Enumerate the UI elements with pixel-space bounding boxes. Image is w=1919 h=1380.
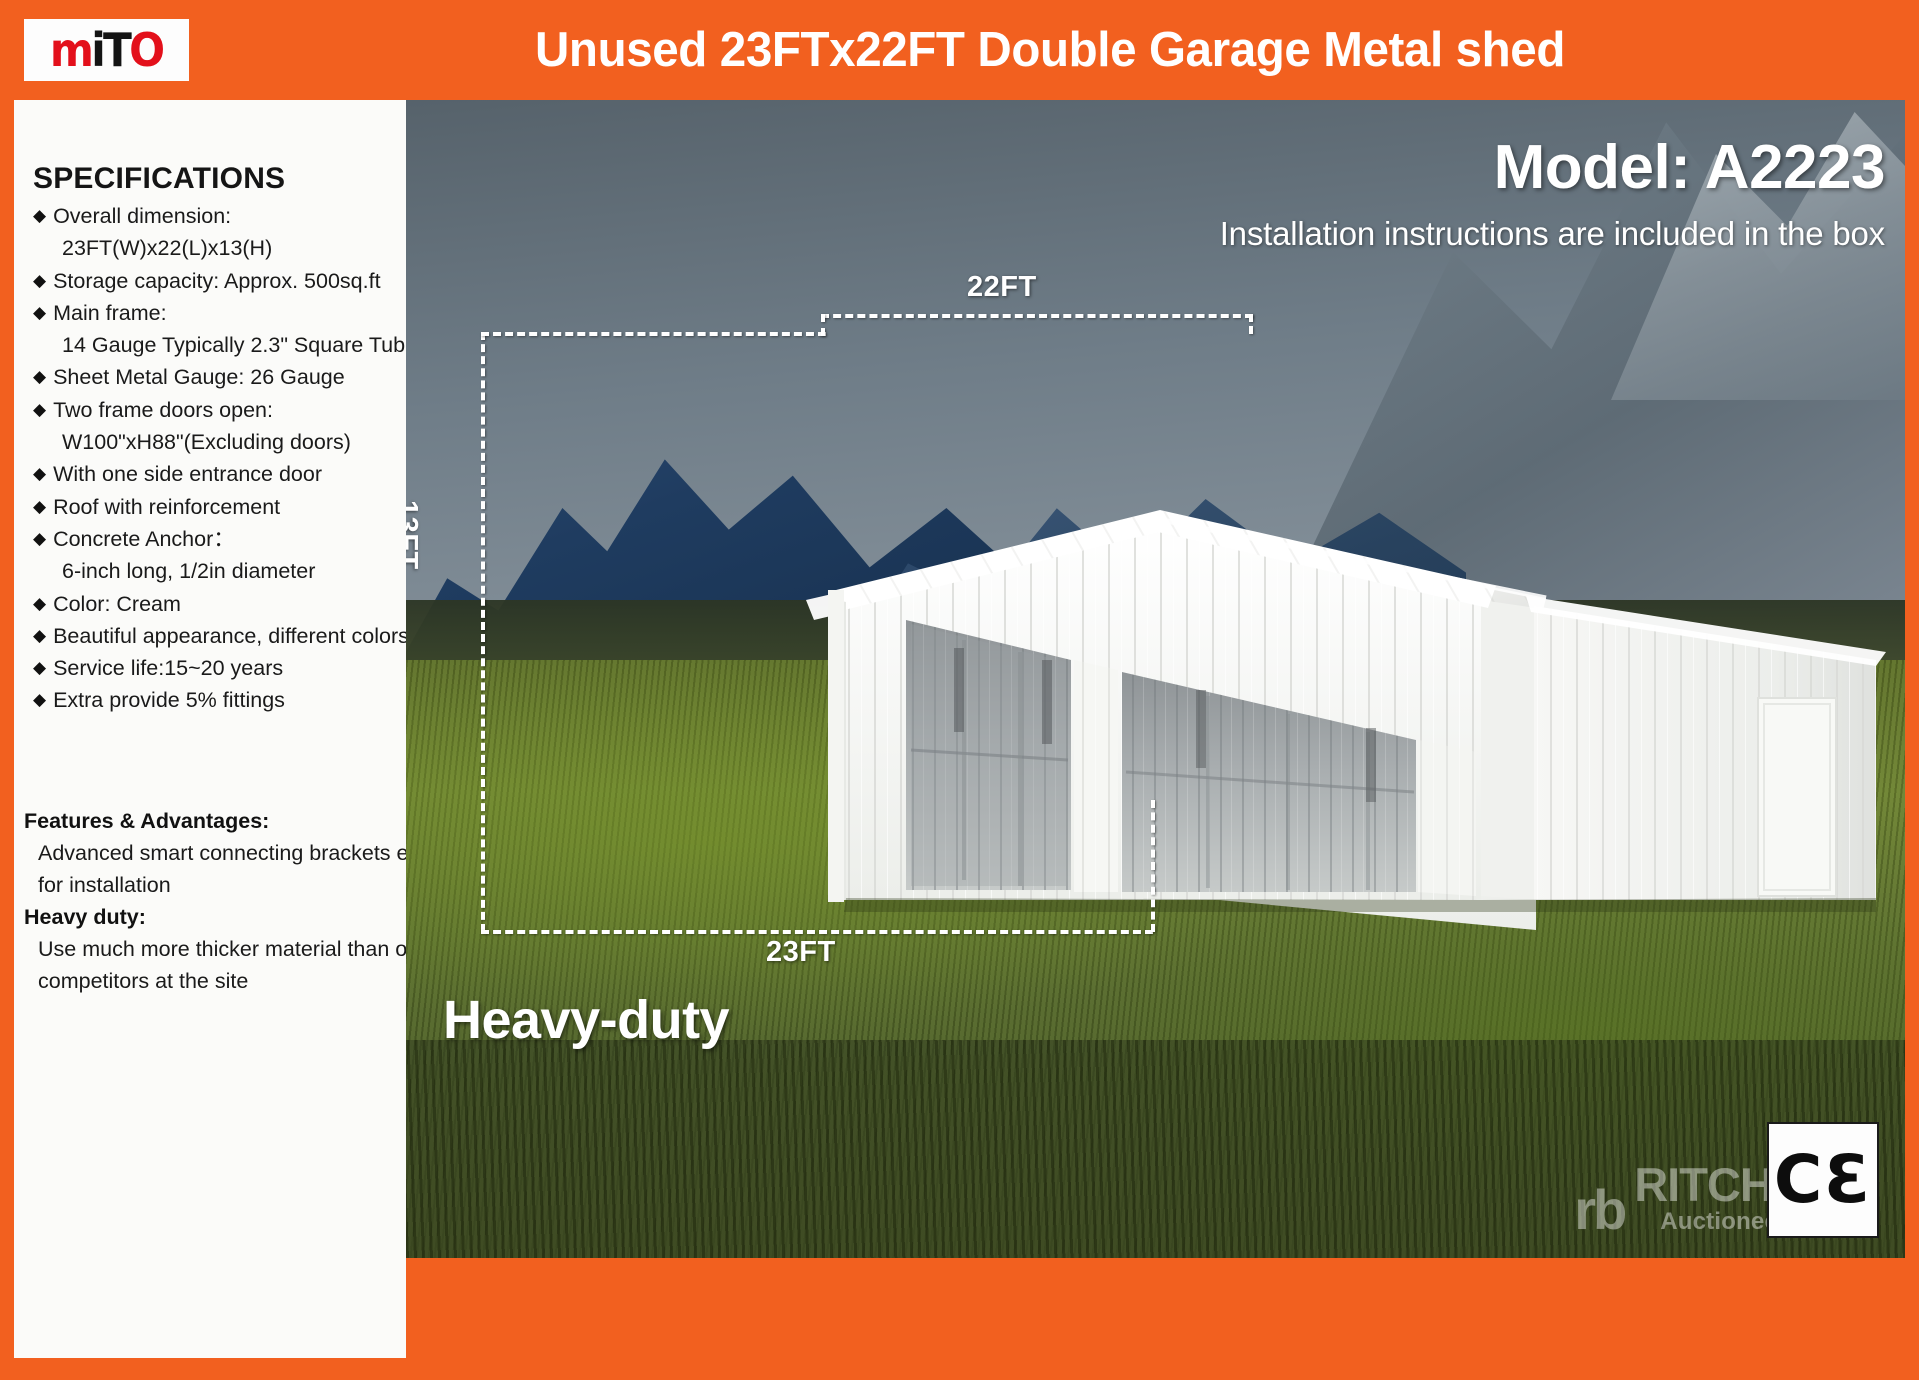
spec-item: ◆With one side entrance door	[33, 458, 405, 490]
diamond-bullet-icon: ◆	[33, 458, 46, 490]
model-number: Model: A2223	[1494, 132, 1885, 203]
diamond-bullet-icon: ◆	[33, 684, 46, 716]
spec-item-detail: 14 Gauge Typically 2.3" Square Tube	[33, 329, 405, 361]
features-body-line-1: Advanced smart connecting brackets easy	[24, 837, 406, 869]
diamond-bullet-icon: ◆	[33, 200, 46, 232]
ce-mark-text: CƐ	[1774, 1147, 1872, 1213]
logo-letters-it: iT	[92, 23, 130, 77]
features-advantages-block: Features & Advantages: Advanced smart co…	[24, 805, 406, 997]
spec-item: ◆Sheet Metal Gauge: 26 Gauge	[33, 361, 405, 393]
diamond-bullet-icon: ◆	[33, 297, 46, 329]
logo-wordmark: miTO	[50, 27, 162, 73]
features-body-line-2: for installation	[24, 869, 406, 901]
spec-item-label: Beautiful appearance, different colors	[53, 620, 409, 652]
heavy-duty-body-line-2: competitors at the site	[24, 965, 406, 997]
spec-item-detail: W100"xH88"(Excluding doors)	[33, 426, 405, 458]
spec-item-label: Roof with reinforcement	[53, 491, 280, 523]
installation-note: Installation instructions are included i…	[1220, 215, 1885, 253]
spec-item: ◆Service life:15~20 years	[33, 652, 405, 684]
spec-item-label: Two frame doors open:	[53, 394, 273, 426]
logo-letter-o: O	[129, 23, 162, 77]
diamond-bullet-icon: ◆	[33, 265, 46, 297]
specifications-panel: SPECIFICATIONS ◆Overall dimension:23FT(W…	[14, 100, 406, 1358]
specifications-list: ◆Overall dimension:23FT(W)x22(L)x13(H)◆S…	[33, 200, 405, 717]
header-bar: miTO Unused 23FTx22FT Double Garage Meta…	[0, 0, 1919, 100]
dimension-guide-height	[481, 332, 485, 932]
dimension-label-width: 23FT	[766, 936, 836, 969]
diamond-bullet-icon: ◆	[33, 491, 46, 523]
spec-item: ◆Color: Cream	[33, 588, 405, 620]
ce-mark: CƐ	[1767, 1122, 1879, 1238]
tagline-heavy-duty: Heavy-duty	[443, 989, 729, 1051]
diamond-bullet-icon: ◆	[33, 588, 46, 620]
spec-item-label: Extra provide 5% fittings	[53, 684, 285, 716]
spec-item-label: Overall dimension:	[53, 200, 231, 232]
diamond-bullet-icon: ◆	[33, 652, 46, 684]
spec-item-label: Concrete Anchor：	[53, 523, 235, 555]
spec-item: ◆Roof with reinforcement	[33, 491, 405, 523]
diamond-bullet-icon: ◆	[33, 361, 46, 393]
dimension-guide-depth-drop	[821, 314, 825, 336]
dimension-guide-top-left	[481, 332, 826, 336]
spec-item-detail: 23FT(W)x22(L)x13(H)	[33, 232, 405, 264]
mito-logo: miTO	[24, 19, 189, 81]
heavy-duty-body-line-1: Use much more thicker material than othe…	[24, 933, 406, 965]
spec-item-label: Main frame:	[53, 297, 167, 329]
diamond-bullet-icon: ◆	[33, 620, 46, 652]
spec-item-label: Storage capacity: Approx. 500sq.ft	[53, 265, 380, 297]
spec-item-detail: 6-inch long, 1/2in diameter	[33, 555, 405, 587]
spec-item-label: Service life:15~20 years	[53, 652, 283, 684]
metal-shed-illustration	[406, 100, 1905, 1258]
dimension-guide-depth	[821, 314, 1253, 318]
dimension-guide-depth-right	[1249, 314, 1253, 334]
spec-item: ◆Extra provide 5% fittings	[33, 684, 405, 716]
spec-item: ◆Overall dimension:	[33, 200, 405, 232]
diamond-bullet-icon: ◆	[33, 394, 46, 426]
spec-item: ◆Two frame doors open:	[33, 394, 405, 426]
product-spec-sheet: miTO Unused 23FTx22FT Double Garage Meta…	[0, 0, 1919, 1380]
diamond-bullet-icon: ◆	[33, 523, 46, 555]
dimension-guide-width-right	[1151, 800, 1155, 932]
spec-item: ◆Main frame:	[33, 297, 405, 329]
heavy-duty-heading: Heavy duty:	[24, 901, 406, 933]
dimension-label-height: 13FT	[406, 500, 423, 570]
dimension-guide-width	[481, 930, 1153, 934]
spec-item-label: Color: Cream	[53, 588, 181, 620]
spec-item: ◆Storage capacity: Approx. 500sq.ft	[33, 265, 405, 297]
spec-item-label: With one side entrance door	[53, 458, 322, 490]
spec-item: ◆Concrete Anchor：	[33, 523, 405, 555]
specifications-heading: SPECIFICATIONS	[33, 162, 285, 196]
logo-letter-m: m	[50, 23, 91, 77]
page-title: Unused 23FTx22FT Double Garage Metal she…	[226, 0, 1875, 100]
spec-item: ◆Beautiful appearance, different colors	[33, 620, 405, 652]
dimension-label-depth: 22FT	[967, 271, 1037, 304]
features-heading: Features & Advantages:	[24, 805, 406, 837]
spec-item-label: Sheet Metal Gauge: 26 Gauge	[53, 361, 345, 393]
product-photo: Model: A2223 Installation instructions a…	[406, 100, 1905, 1258]
